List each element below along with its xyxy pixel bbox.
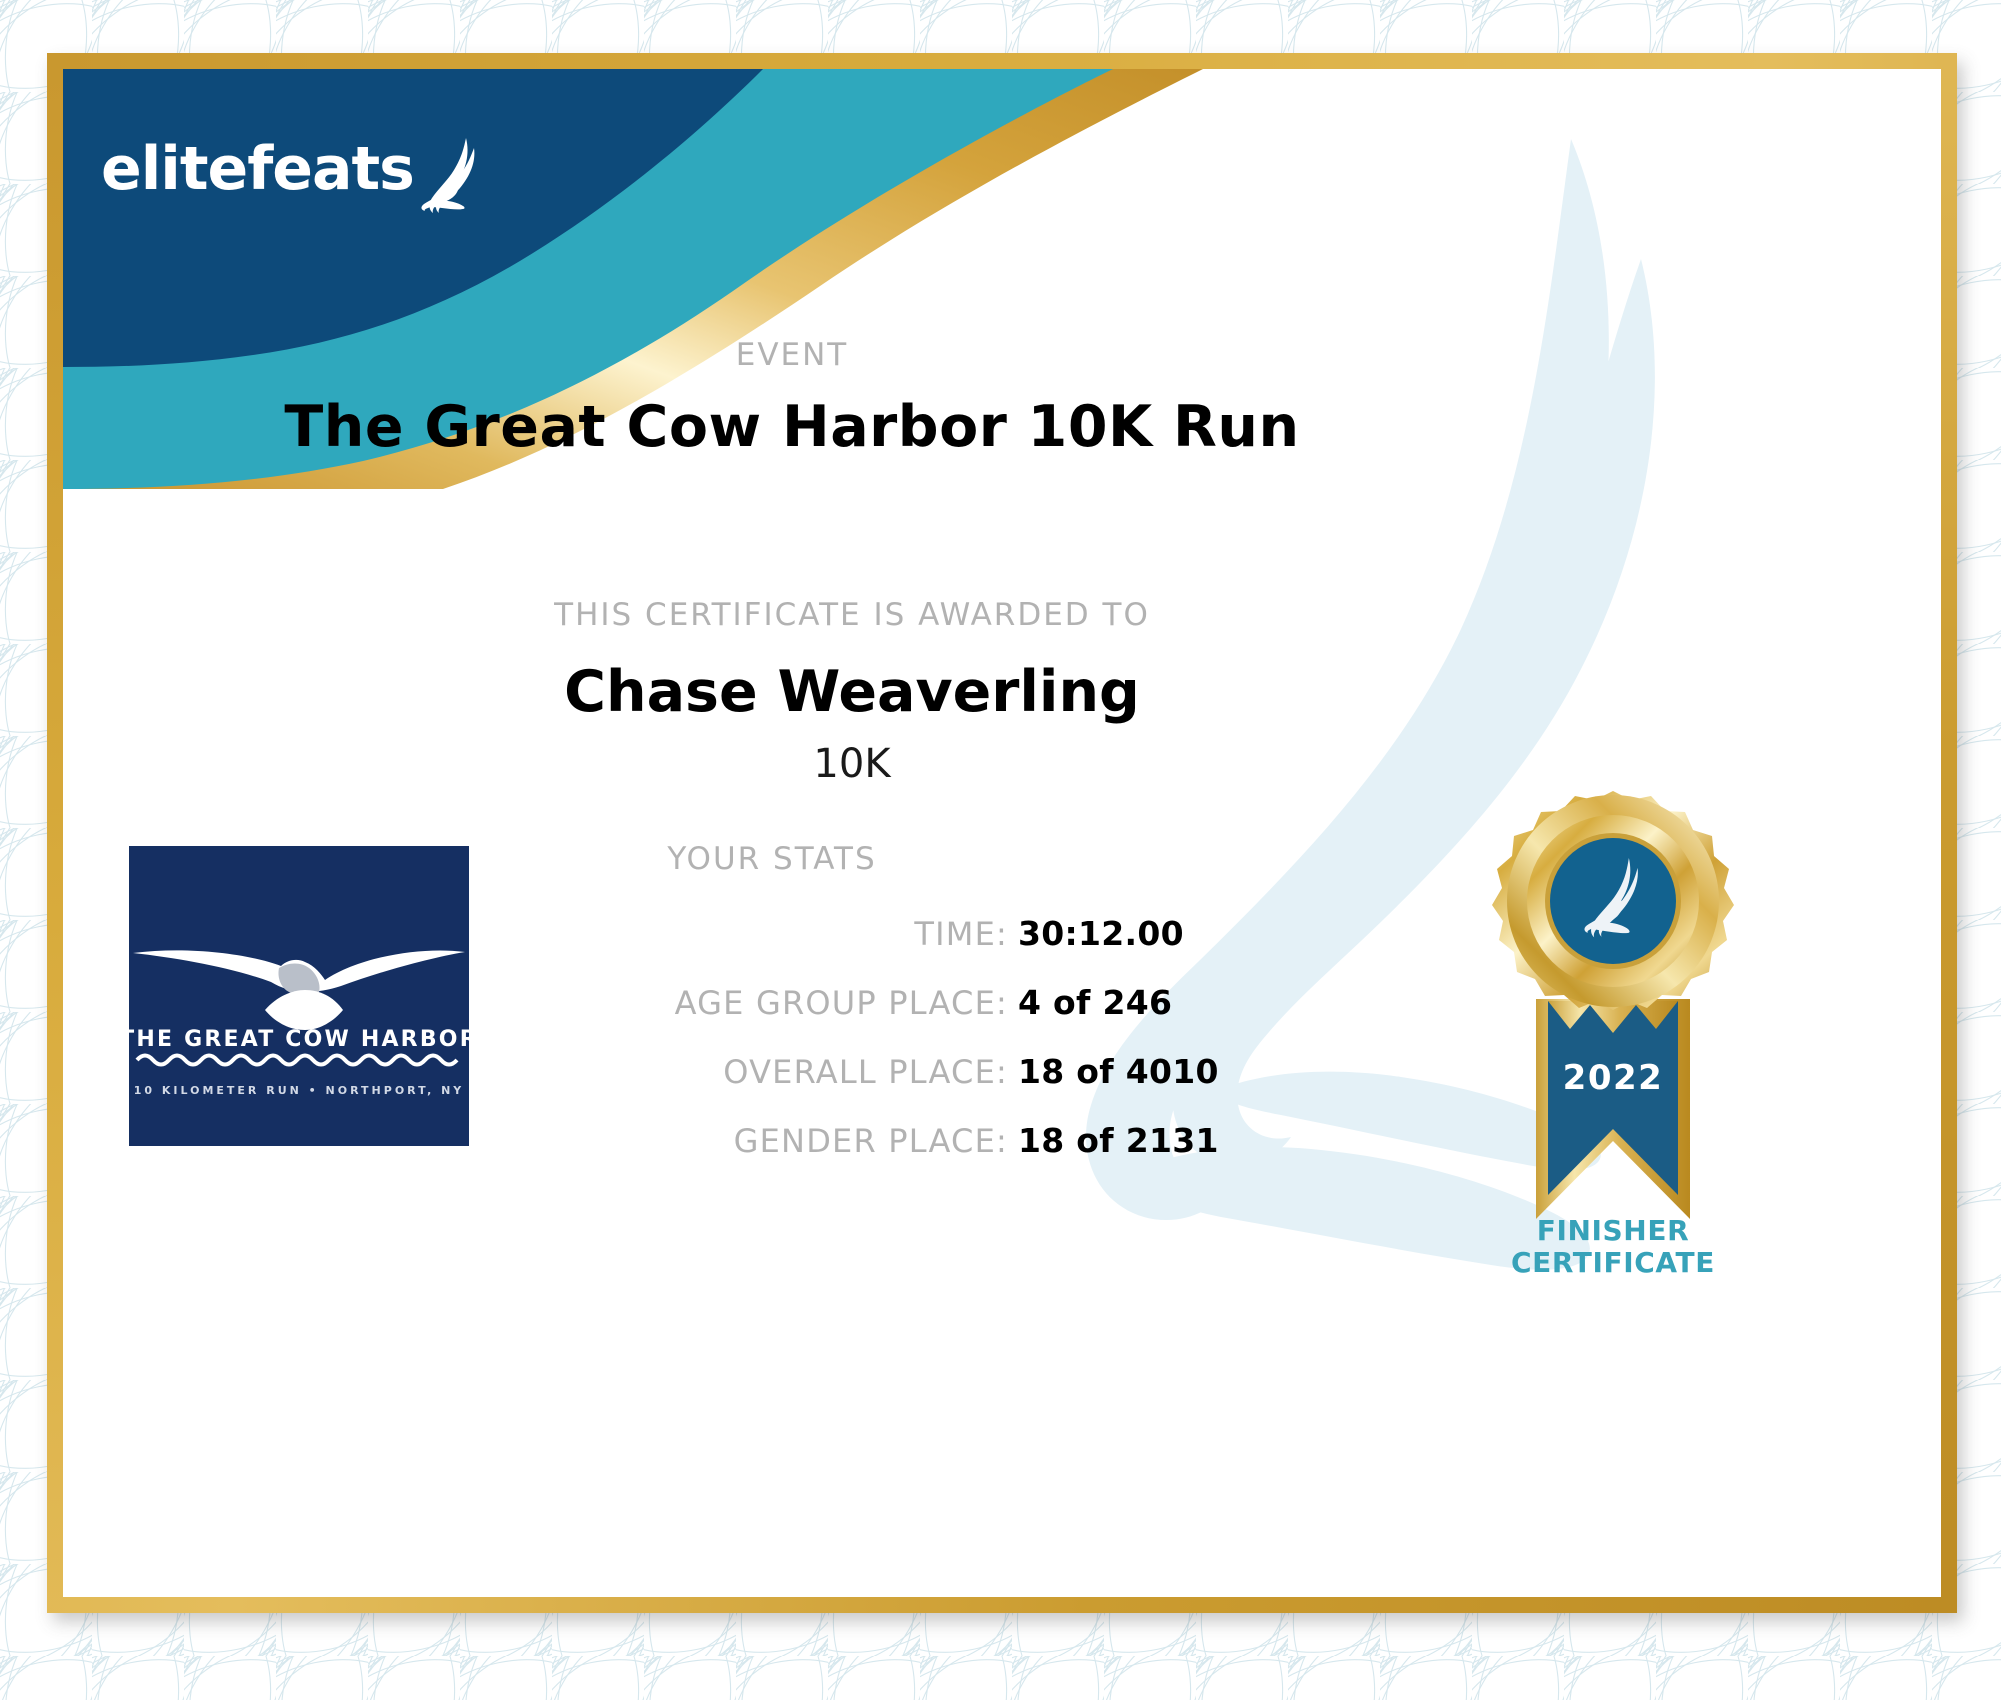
brand-wordmark: elitefeats [101, 139, 414, 199]
stat-value: 4 of 246 [1018, 983, 1172, 1022]
stat-value: 30:12.00 [1018, 914, 1184, 953]
awarded-to-label: THIS CERTIFICATE IS AWARDED TO [63, 597, 1791, 633]
event-title: The Great Cow Harbor 10K Run [63, 394, 1731, 460]
winged-foot-icon [408, 134, 488, 214]
svg-text:10 KILOMETER RUN • NORTHPORT: 10 KILOMETER RUN • NORTHPORT, NY [134, 1084, 465, 1097]
medal-caption-line-2: CERTIFICATE [1458, 1247, 1768, 1279]
race-event-logo: THE GREAT COW HARBOR 10 KILOMETER RUN • … [129, 846, 469, 1146]
svg-text:THE GREAT COW HARBOR: THE GREAT COW HARBOR [129, 1027, 469, 1052]
medal-caption: FINISHER CERTIFICATE [1458, 1215, 1768, 1280]
event-label: EVENT [63, 337, 1731, 373]
recipient-name: Chase Weaverling [63, 659, 1791, 725]
certificate-body: elitefeats THE GREAT COW HARBOR 10 KI [63, 69, 1941, 1597]
elitefeats-brand-logo: elitefeats [101, 124, 488, 214]
medal-caption-line-1: FINISHER [1458, 1215, 1768, 1247]
stat-value: 18 of 2131 [1018, 1121, 1219, 1160]
stat-value: 18 of 4010 [1018, 1052, 1219, 1091]
race-distance: 10K [63, 741, 1791, 787]
medal-year: 2022 [1563, 1058, 1664, 1098]
finisher-medal-badge: 2022 [1458, 789, 1768, 1259]
